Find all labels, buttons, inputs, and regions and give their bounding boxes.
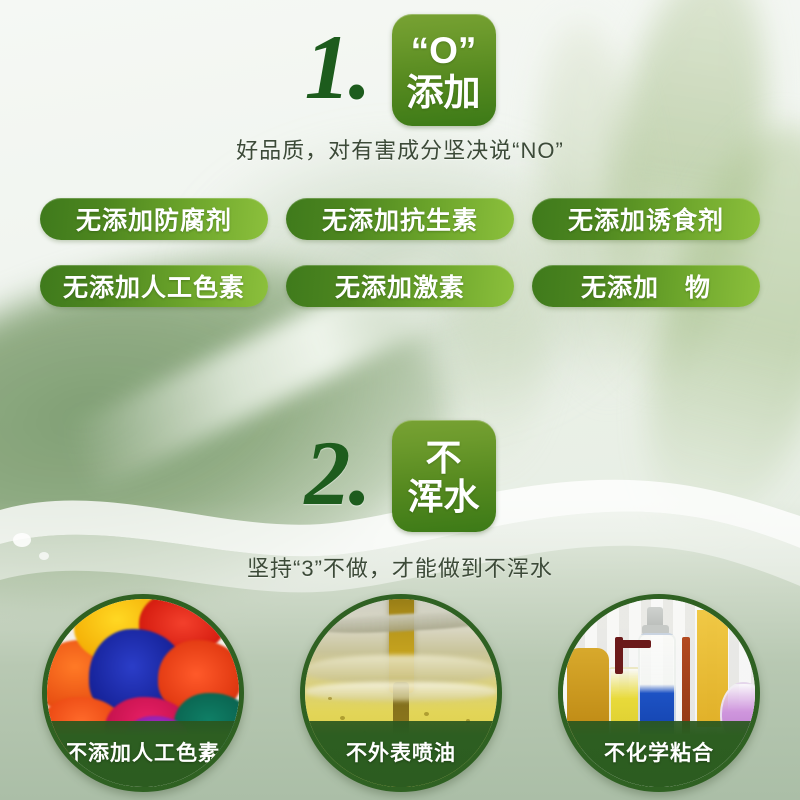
section-1-badge-top: “O” [411, 32, 477, 69]
section-1-heading: 1. “O” 添加 [0, 14, 800, 126]
feature-pill-grid: 无添加防腐剂 无添加抗生素 无添加诱食剂 无添加人工色素 无添加激素 无添加 物 [40, 198, 770, 307]
section-2-subtitle: 坚持“3”不做，才能做到不浑水 [0, 551, 800, 583]
section-1-badge-bottom: 添加 [407, 74, 481, 111]
section-2-badge: 不 浑水 [392, 420, 496, 532]
proof-circle-row: 不添加人工色素 [0, 592, 800, 792]
feature-pill[interactable]: 无添加 物 [532, 265, 760, 307]
section-2-heading: 2. 不 浑水 [0, 420, 800, 532]
section-2-number: 2. [305, 431, 370, 522]
proof-circle[interactable]: 不添加人工色素 [42, 594, 244, 792]
promo-page: 1. “O” 添加 好品质，对有害成分坚决说“NO” 无添加防腐剂 无添加抗生素… [0, 0, 800, 800]
feature-pill[interactable]: 无添加抗生素 [286, 198, 514, 240]
section-1-badge: “O” 添加 [392, 14, 496, 126]
section-2-badge-top: 不 [425, 440, 461, 476]
section-1-subtitle: 好品质，对有害成分坚决说“NO” [0, 133, 800, 165]
proof-circle-caption: 不外表喷油 [305, 721, 497, 787]
proof-circle-caption: 不化学粘合 [563, 721, 755, 787]
proof-circle[interactable]: 不化学粘合 [558, 594, 760, 792]
feature-pill[interactable]: 无添加诱食剂 [532, 198, 760, 240]
section-1-number: 1. [305, 25, 370, 116]
proof-circle[interactable]: 不外表喷油 [300, 594, 502, 792]
proof-circle-caption: 不添加人工色素 [47, 721, 239, 787]
feature-pill[interactable]: 无添加防腐剂 [40, 198, 268, 240]
feature-pill[interactable]: 无添加激素 [286, 265, 514, 307]
section-2-badge-bottom: 浑水 [407, 479, 479, 515]
feature-pill[interactable]: 无添加人工色素 [40, 265, 268, 307]
